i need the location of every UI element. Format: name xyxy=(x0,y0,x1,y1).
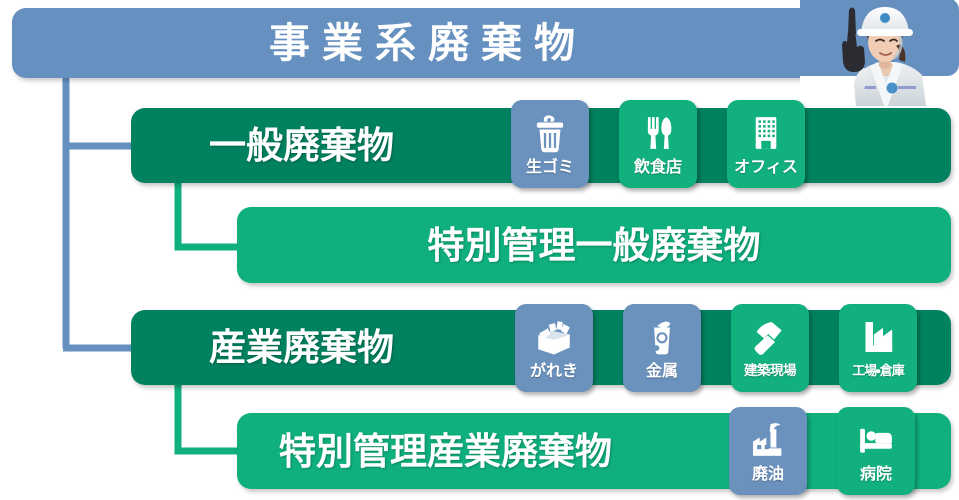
badge-caption: オフィス xyxy=(734,160,798,176)
page-title: 事業系廃棄物 xyxy=(12,8,832,78)
badge-caption: がれき xyxy=(530,364,578,380)
category-label-tokubetsu-kanri-ippan-haikibutsu: 特別管理一般廃棄物 xyxy=(428,227,761,264)
badge-caption: 飲食店 xyxy=(634,160,682,176)
badge-caption: 建築現場 xyxy=(744,364,796,378)
badge-haiyu[interactable]: 廃油 xyxy=(729,407,807,495)
badge-byoin[interactable]: 病院 xyxy=(837,407,915,495)
badge-kenchiku-genba[interactable]: 建築現場 xyxy=(731,304,809,392)
badge-kinzoku[interactable]: 金属 xyxy=(623,304,701,392)
badge-caption: 病院 xyxy=(860,467,892,483)
category-box-tokubetsu-kanri-ippan-haikibutsu[interactable]: 特別管理一般廃棄物 xyxy=(237,207,951,283)
factory-smoke-icon xyxy=(742,416,794,464)
metal-can-icon xyxy=(636,313,688,361)
badge-gareki[interactable]: がれき xyxy=(515,304,593,392)
waste-classification-diagram: 事業系廃棄物 xyxy=(0,0,959,500)
category-label-sangyo-haikibutsu: 産業廃棄物 xyxy=(209,329,394,366)
badge-inshokuten[interactable]: 飲食店 xyxy=(619,100,697,188)
badge-namagomi[interactable]: 生ゴミ xyxy=(511,100,589,188)
badge-kojo-soko[interactable]: 工場・倉庫 xyxy=(839,304,917,392)
factory-icon xyxy=(852,313,904,361)
rubble-debris-box-icon xyxy=(528,313,580,361)
female-worker-hardhat-pointing-up-image xyxy=(800,0,959,106)
hospital-bed-icon xyxy=(850,416,902,464)
badge-caption: 廃油 xyxy=(752,467,784,483)
trash-can-icon xyxy=(524,109,576,157)
office-building-icon xyxy=(740,109,792,157)
category-label-ippan-haikibutsu: 一般廃棄物 xyxy=(209,127,394,164)
hammer-icon xyxy=(744,313,796,361)
badge-office[interactable]: オフィス xyxy=(727,100,805,188)
badge-caption: 生ゴミ xyxy=(526,160,574,176)
fork-knife-icon xyxy=(632,109,684,157)
badge-caption: 工場・倉庫 xyxy=(852,364,903,377)
category-label-tokubetsu-kanri-sangyo-haikibutsu: 特別管理産業廃棄物 xyxy=(279,433,612,470)
badge-caption: 金属 xyxy=(646,364,678,380)
